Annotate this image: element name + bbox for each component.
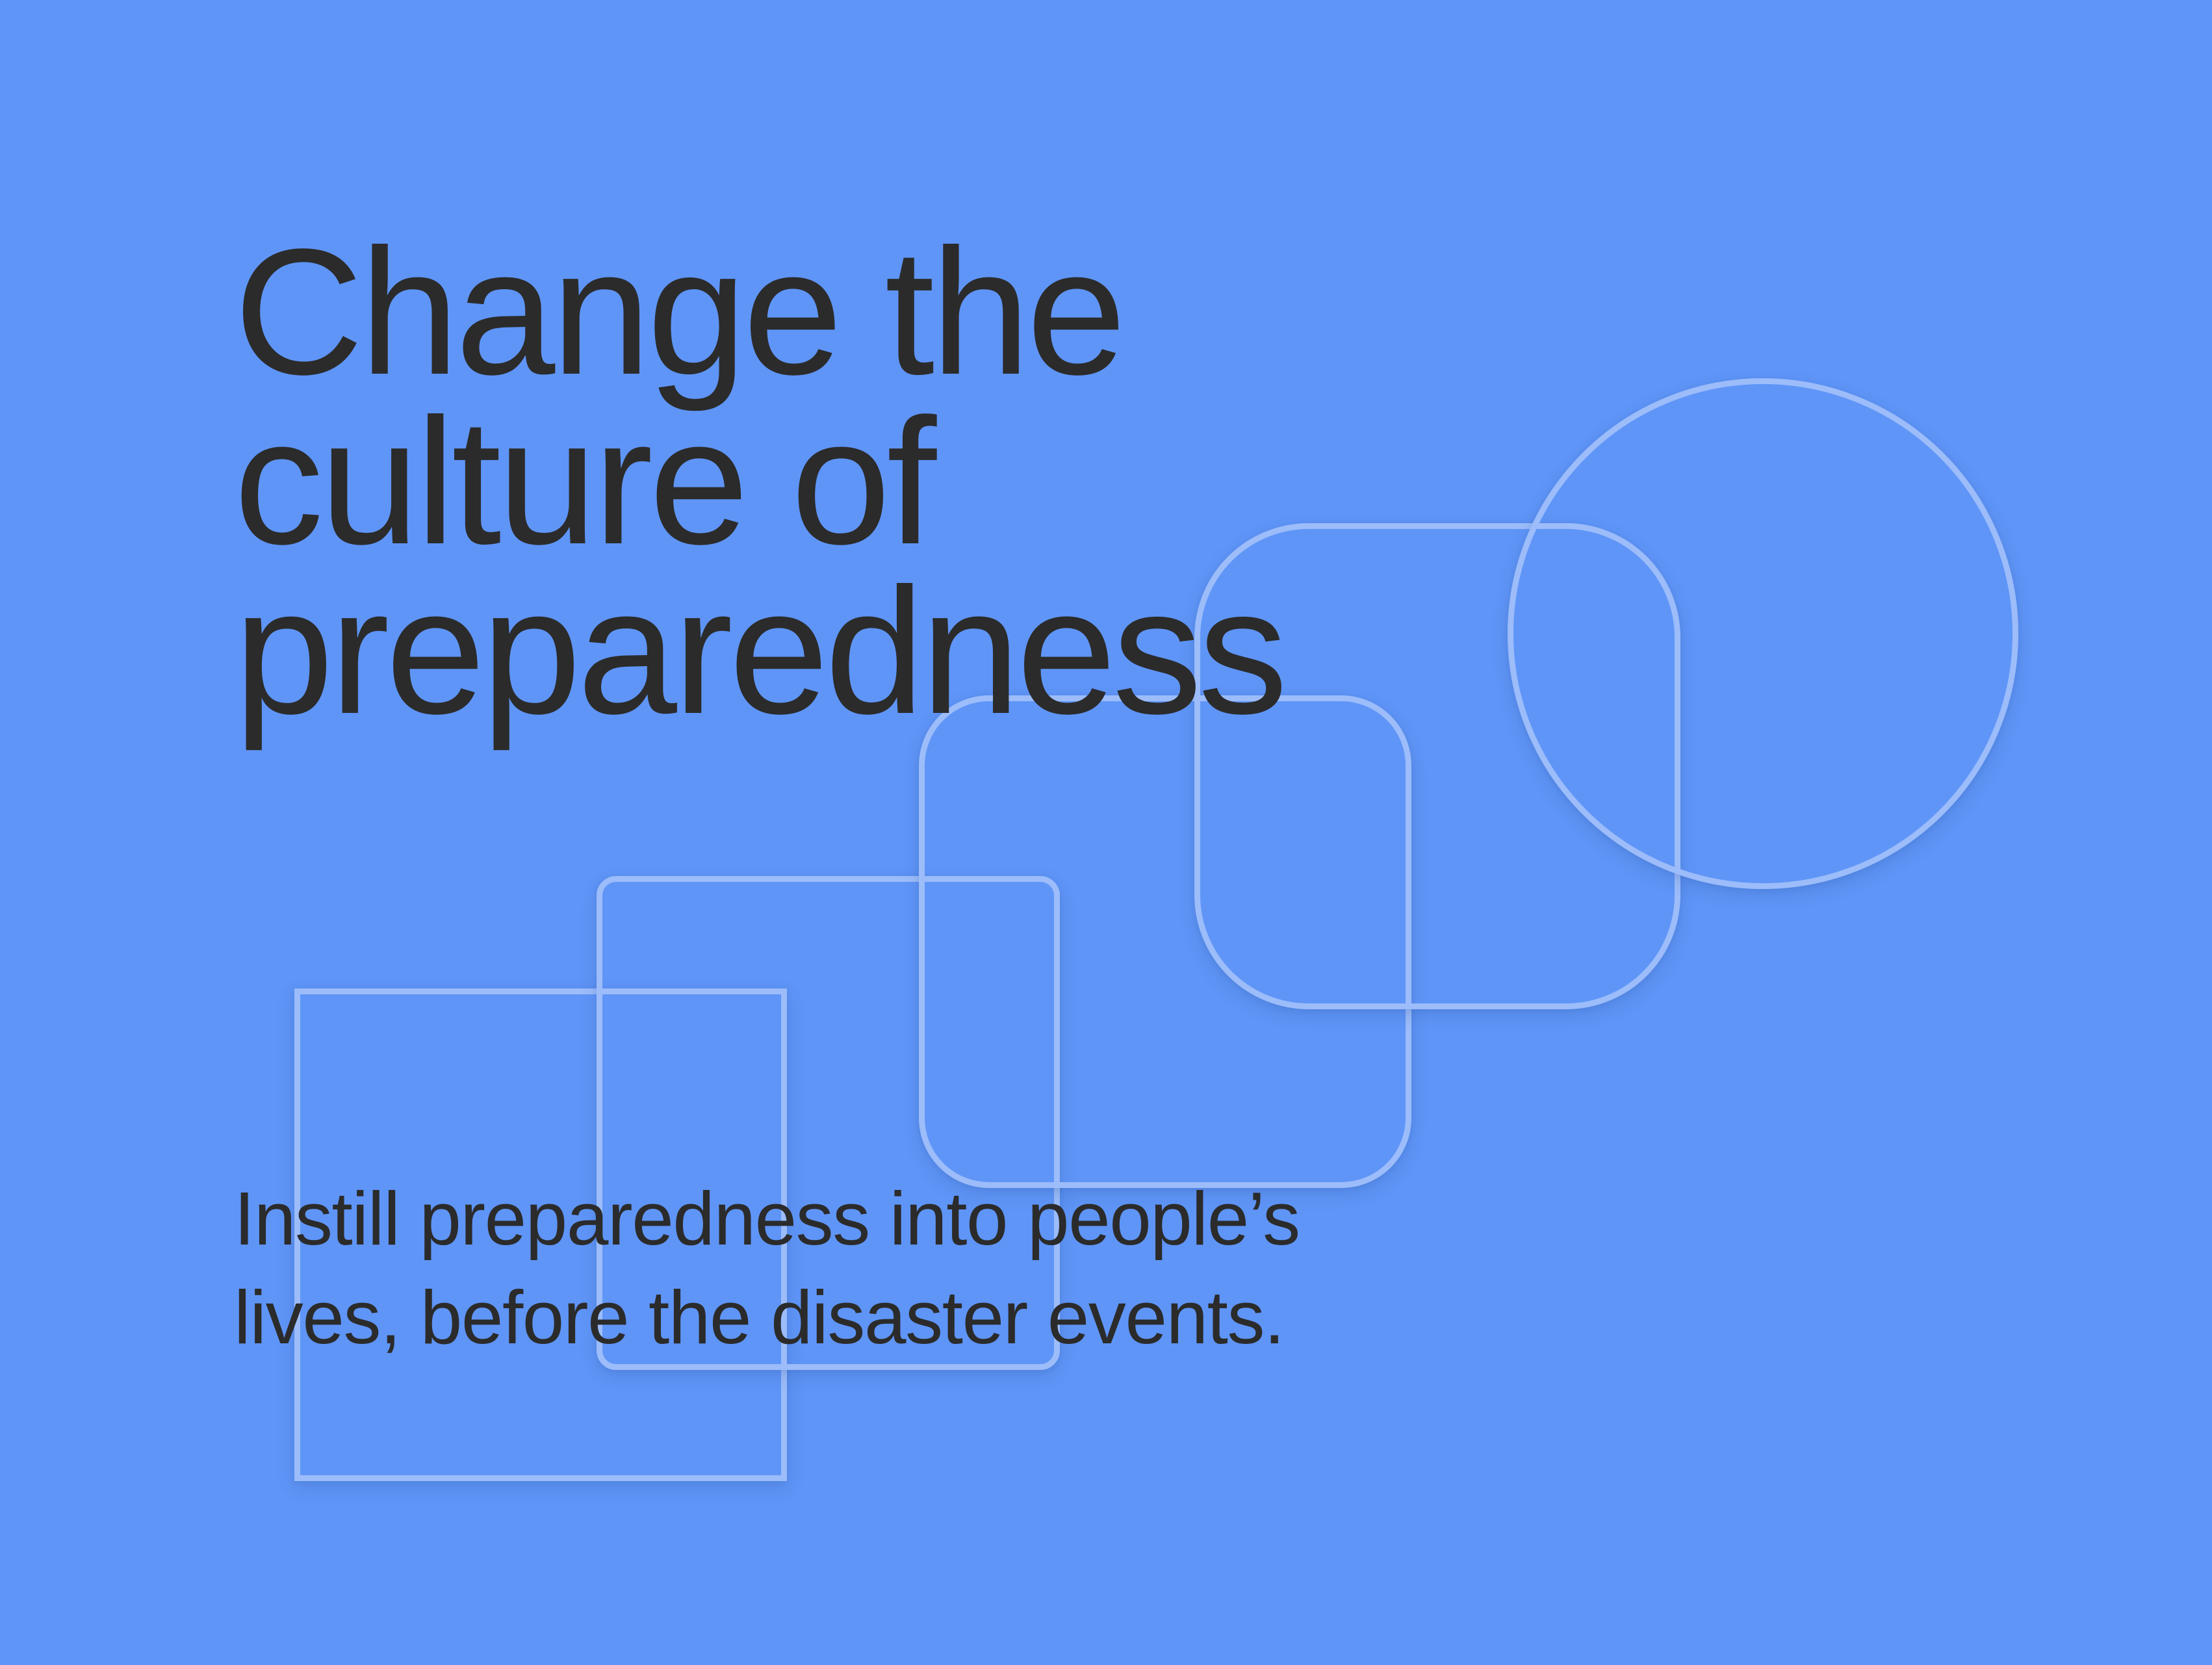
text-layer: Change the culture of preparedness Insti… (0, 0, 2212, 1665)
slide-canvas: Change the culture of preparedness Insti… (0, 0, 2212, 1665)
page-subtitle: Instill preparedness into people’s lives… (234, 1170, 1871, 1367)
page-title: Change the culture of preparedness (234, 227, 1534, 736)
